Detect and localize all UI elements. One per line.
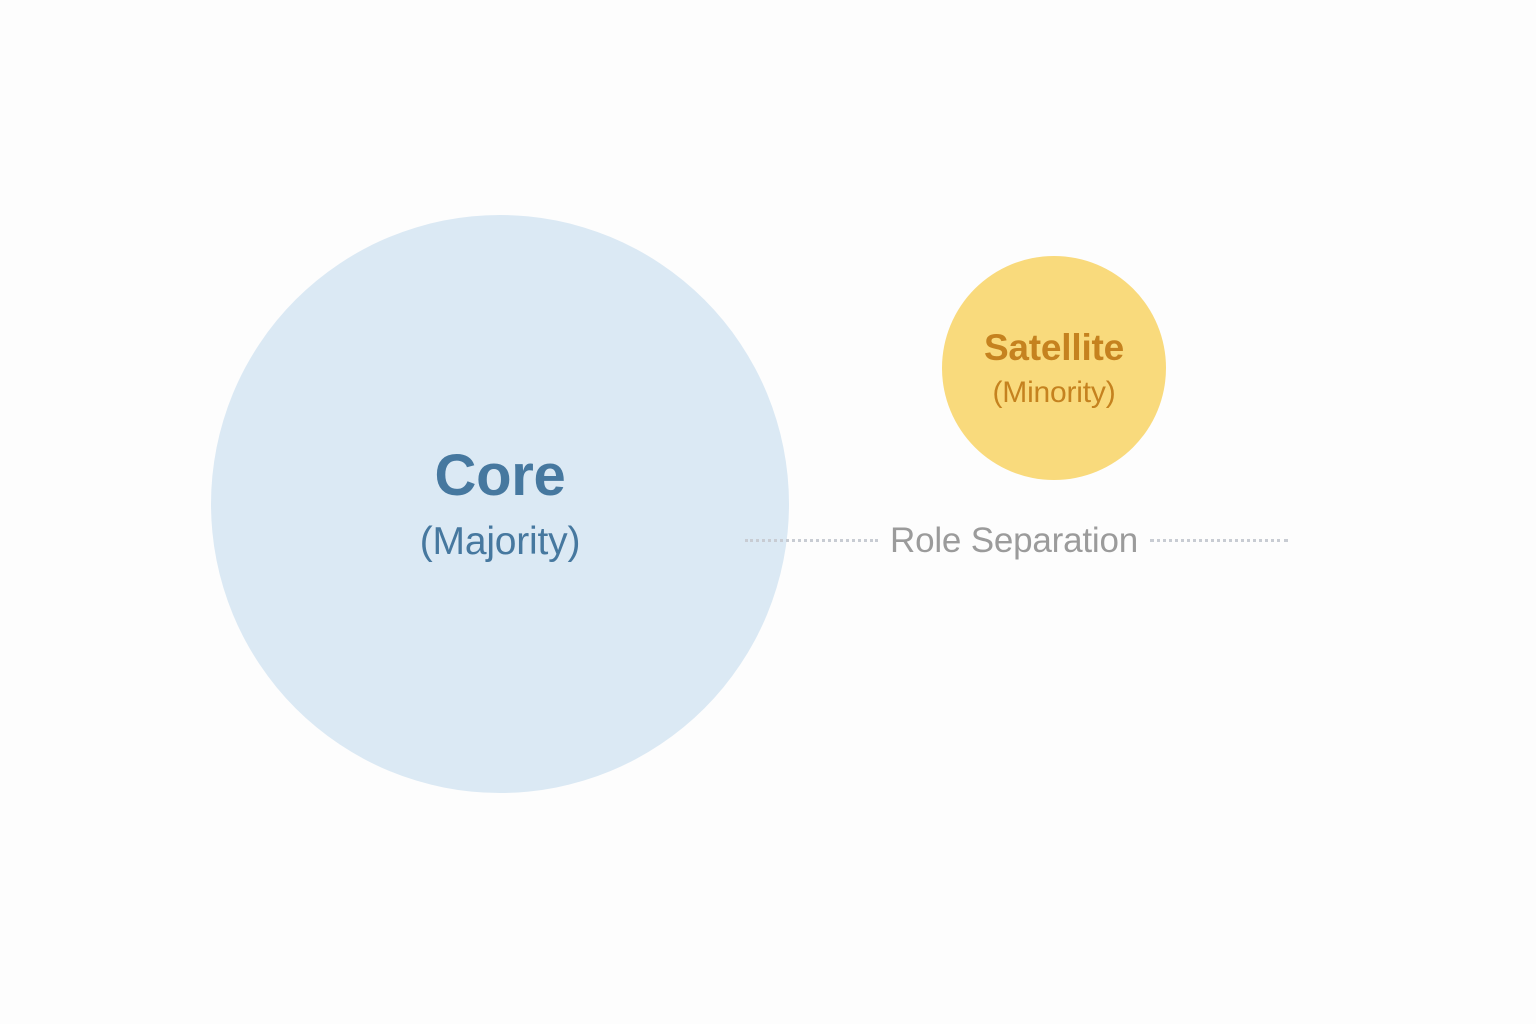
satellite-node-subtitle: (Minority): [993, 378, 1116, 408]
diagram-canvas: Core (Majority) Satellite (Minority) Rol…: [0, 0, 1536, 1024]
role-separation-connector: Role Separation: [745, 512, 1345, 568]
separation-dotted-line-left: [745, 539, 878, 542]
separation-dotted-line-right: [1150, 539, 1288, 542]
core-node[interactable]: Core (Majority): [211, 215, 789, 793]
separation-label: Role Separation: [890, 523, 1138, 558]
satellite-node[interactable]: Satellite (Minority): [942, 256, 1166, 480]
core-node-subtitle: (Majority): [420, 522, 581, 561]
satellite-node-title: Satellite: [984, 329, 1124, 366]
core-node-title: Core: [435, 447, 566, 505]
